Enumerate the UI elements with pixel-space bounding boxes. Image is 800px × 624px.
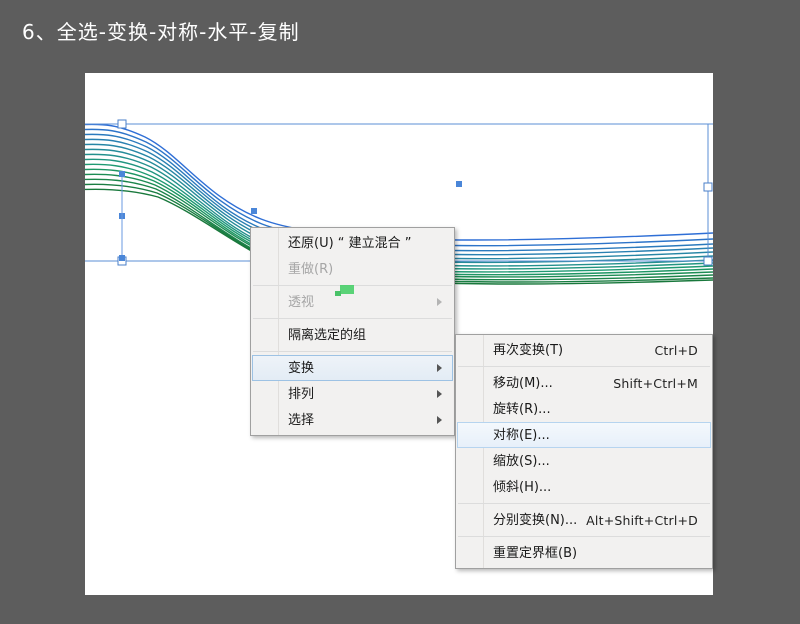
menu-separator: [458, 366, 710, 367]
menu-item-label: 重做(R): [288, 257, 333, 283]
transform-menu-item-4[interactable]: 对称(E)...: [457, 422, 711, 448]
menu-separator: [253, 351, 452, 352]
menu-item-label: 透视: [288, 290, 314, 316]
menu-item-label: 还原(U) “ 建立混合 ”: [288, 231, 412, 257]
object-context-menu[interactable]: 还原(U) “ 建立混合 ”重做(R)透视隔离选定的组变换排列选择: [250, 227, 455, 436]
menu-separator: [458, 536, 710, 537]
context-menu-item-5[interactable]: 隔离选定的组: [252, 322, 453, 348]
menu-item-label: 重置定界框(B): [493, 541, 577, 567]
menu-item-label: 隔离选定的组: [288, 323, 366, 349]
context-menu-item-8[interactable]: 排列: [252, 381, 453, 407]
transform-menu-item-8[interactable]: 分别变换(N)...Alt+Shift+Ctrl+D: [457, 507, 711, 533]
menu-item-shortcut: Ctrl+D: [654, 338, 698, 364]
menu-item-label: 再次变换(T): [493, 338, 563, 364]
menu-item-label: 选择: [288, 408, 314, 434]
menu-item-label: 倾斜(H)...: [493, 475, 551, 501]
transform-menu-item-6[interactable]: 倾斜(H)...: [457, 474, 711, 500]
menu-item-label: 排列: [288, 382, 314, 408]
transform-menu-item-3[interactable]: 旋转(R)...: [457, 396, 711, 422]
menu-item-label: 对称(E)...: [493, 423, 550, 449]
chevron-right-icon: [437, 298, 442, 306]
chevron-right-icon: [437, 416, 442, 424]
menu-separator: [458, 503, 710, 504]
transform-submenu[interactable]: 再次变换(T)Ctrl+D移动(M)...Shift+Ctrl+M旋转(R)..…: [455, 334, 713, 569]
menu-item-label: 移动(M)...: [493, 371, 553, 397]
menu-item-label: 变换: [288, 356, 314, 382]
context-menu-item-9[interactable]: 选择: [252, 407, 453, 433]
page-title: 6、全选-变换-对称-水平-复制: [22, 16, 300, 45]
transform-menu-item-10[interactable]: 重置定界框(B): [457, 540, 711, 566]
context-menu-item-0[interactable]: 还原(U) “ 建立混合 ”: [252, 230, 453, 256]
context-menu-item-7[interactable]: 变换: [252, 355, 453, 381]
menu-item-shortcut: Shift+Ctrl+M: [613, 371, 698, 397]
chevron-right-icon: [437, 390, 442, 398]
menu-item-shortcut: Alt+Shift+Ctrl+D: [586, 508, 698, 534]
transform-menu-item-5[interactable]: 缩放(S)...: [457, 448, 711, 474]
menu-item-label: 分别变换(N)...: [493, 508, 577, 534]
context-menu-item-1: 重做(R): [252, 256, 453, 282]
transform-menu-item-0[interactable]: 再次变换(T)Ctrl+D: [457, 337, 711, 363]
anchor-point-marker-icon: [340, 285, 354, 294]
transform-menu-item-2[interactable]: 移动(M)...Shift+Ctrl+M: [457, 370, 711, 396]
menu-item-label: 缩放(S)...: [493, 449, 550, 475]
menu-separator: [253, 318, 452, 319]
menu-item-label: 旋转(R)...: [493, 397, 551, 423]
chevron-right-icon: [437, 364, 442, 372]
anchor-point-cursor-icon: [335, 291, 341, 296]
